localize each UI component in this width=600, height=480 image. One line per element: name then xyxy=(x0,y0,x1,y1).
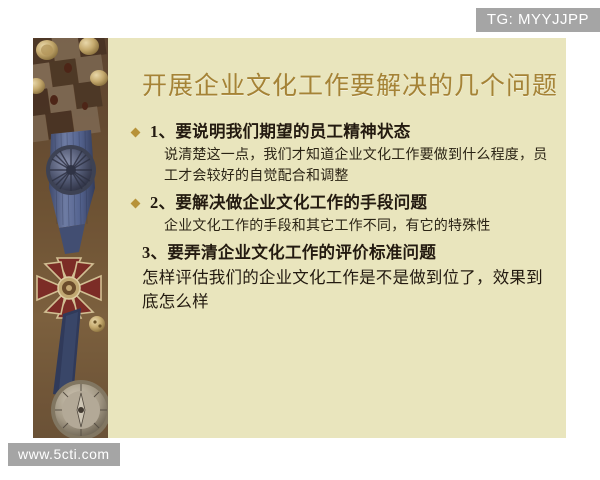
bullet-heading-1-text: 1、要说明我们期望的员工精神状态 xyxy=(150,122,411,141)
list-item: 3、要弄清企业文化工作的评价标准问题 怎样评估我们的企业文化工作是不是做到位了，… xyxy=(128,241,554,314)
slide-content: 开展企业文化工作要解决的几个问题 1、要说明我们期望的员工精神状态 说清楚这一点… xyxy=(108,38,566,438)
diamond-bullet-icon xyxy=(131,198,141,208)
decorative-photo-strip xyxy=(33,38,108,438)
bullet-heading-2: 2、要解决做企业文化工作的手段问题 xyxy=(128,191,554,215)
page-title: 开展企业文化工作要解决的几个问题 xyxy=(128,38,554,102)
bullet-heading-3: 3、要弄清企业文化工作的评价标准问题 xyxy=(128,241,554,265)
medals-photo-illustration xyxy=(33,38,108,438)
bullet-heading-1: 1、要说明我们期望的员工精神状态 xyxy=(128,120,554,144)
bullet-subtext-2: 企业文化工作的手段和其它工作不同，有它的特殊性 xyxy=(128,216,554,237)
watermark-top-right: TG: MYYJJPP xyxy=(476,8,600,32)
presentation-slide: 开展企业文化工作要解决的几个问题 1、要说明我们期望的员工精神状态 说清楚这一点… xyxy=(33,38,566,438)
bullet-subtext-1: 说清楚这一点，我们才知道企业文化工作要做到什么程度，员工才会较好的自觉配合和调整 xyxy=(128,145,554,187)
diamond-bullet-icon xyxy=(131,128,141,138)
watermark-bottom-left: www.5cti.com xyxy=(8,443,120,466)
list-item: 2、要解决做企业文化工作的手段问题 企业文化工作的手段和其它工作不同，有它的特殊… xyxy=(128,191,554,237)
bullet-list: 1、要说明我们期望的员工精神状态 说清楚这一点，我们才知道企业文化工作要做到什么… xyxy=(128,102,554,314)
bullet-heading-3-text: 3、要弄清企业文化工作的评价标准问题 xyxy=(142,243,436,262)
bullet-heading-2-text: 2、要解决做企业文化工作的手段问题 xyxy=(150,193,427,212)
bullet-subtext-3: 怎样评估我们的企业文化工作是不是做到位了，效果到底怎么样 xyxy=(128,266,554,314)
list-item: 1、要说明我们期望的员工精神状态 说清楚这一点，我们才知道企业文化工作要做到什么… xyxy=(128,120,554,187)
